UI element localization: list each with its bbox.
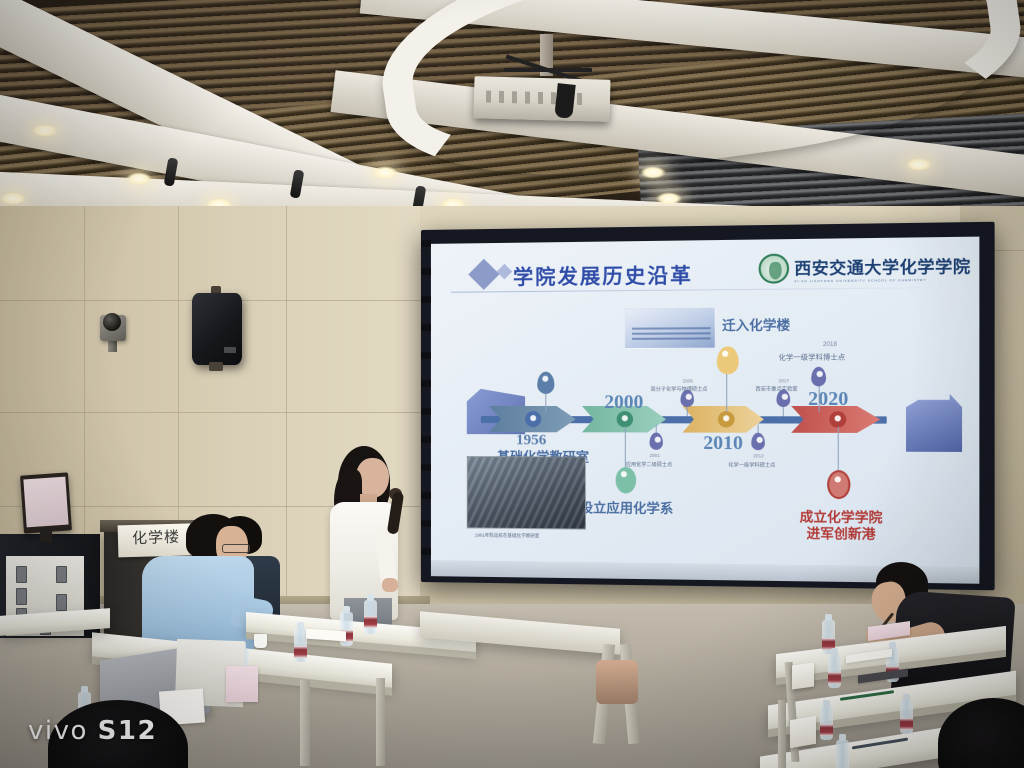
new-campus-illustration <box>906 391 962 452</box>
label-2000: 设立应用化学系 <box>580 497 673 517</box>
historical-photo <box>467 456 586 529</box>
bottle-label <box>364 616 377 628</box>
xjtu-seal-icon <box>759 254 789 284</box>
timeline-stem <box>838 427 839 477</box>
timeline-stem <box>819 383 820 412</box>
bottle-label <box>294 646 307 658</box>
wall-seam <box>286 206 287 606</box>
slide-title: 学院发展历史沿革 <box>513 259 693 290</box>
label-2006: 高分子化学与物理硕士点 <box>651 386 708 393</box>
label-2012: 化学一级学科硕士点 <box>728 461 775 468</box>
timeline-pin-2001 <box>650 432 663 449</box>
timeline-node-1956 <box>525 411 541 427</box>
downlight <box>32 124 58 137</box>
downlight <box>126 172 152 185</box>
table-leg <box>300 680 310 766</box>
timeline-pin-2010 <box>717 346 739 374</box>
speaker-bracket <box>209 362 223 371</box>
bottle-label <box>820 724 833 736</box>
projector-mount <box>504 62 592 78</box>
year-2000: 2000 <box>604 392 643 414</box>
eyeglasses-icon <box>222 544 250 553</box>
photo-caption: 1961年陈廷栋在基础化学教研室 <box>475 533 539 540</box>
downlight <box>0 192 26 205</box>
timeline-pin-2012 <box>751 433 765 451</box>
year-2010: 2010 <box>703 433 743 456</box>
label-2018: 化学一级学科博士点 <box>779 352 846 363</box>
monitor-stand <box>40 528 52 542</box>
projection-screen-frame: 学院发展历史沿革 西安交通大学化学学院 XI'AN JIAOTONG UNIVE… <box>421 222 995 591</box>
timeline-pin-2000 <box>616 467 637 494</box>
downlight <box>640 166 666 179</box>
year-2001: 2001 <box>650 453 660 458</box>
label-2020-line2: 进军创新港 <box>783 525 900 543</box>
presenter-hand <box>382 578 398 592</box>
panel-switch[interactable] <box>16 566 27 583</box>
wall-seam <box>0 412 420 413</box>
watermark-brand: vivo <box>28 716 88 746</box>
year-2020: 2020 <box>808 388 848 411</box>
timeline-node-2010 <box>718 411 735 427</box>
slide-header: 学院发展历史沿革 西安交通大学化学学院 XI'AN JIAOTONG UNIVE… <box>431 243 979 292</box>
table-leg <box>376 678 385 766</box>
wall-speaker <box>192 293 242 365</box>
chair-back <box>596 660 638 704</box>
year-2012: 2012 <box>753 453 763 458</box>
name-card <box>790 716 816 749</box>
panel-switch[interactable] <box>56 594 67 611</box>
projection-screen-surface: 学院发展历史沿革 西安交通大学化学学院 XI'AN JIAOTONG UNIVE… <box>431 237 979 567</box>
camera-lens-icon <box>103 313 121 331</box>
downlight <box>372 166 398 179</box>
pink-document <box>226 666 258 702</box>
screen-tension-tabs <box>421 236 431 580</box>
bottle-label <box>900 718 913 730</box>
photograph-scene: 学院发展历史沿革 西安交通大学化学学院 XI'AN JIAOTONG UNIVE… <box>0 0 1024 768</box>
panel-switch[interactable] <box>56 566 67 583</box>
timeline-pin-2018 <box>811 367 826 387</box>
presentation-slide: 学院发展历史沿革 西安交通大学化学学院 XI'AN JIAOTONG UNIVE… <box>431 237 979 567</box>
chemistry-building-photo <box>625 308 716 349</box>
diamond-icon <box>468 259 499 290</box>
table-leg <box>778 700 786 768</box>
timeline-node-2020 <box>829 411 846 428</box>
logo-text-cn: 西安交通大学化学学院 <box>794 252 970 279</box>
bottle-label <box>828 672 841 684</box>
monitor-screen <box>23 477 68 528</box>
year-2006: 2006 <box>683 378 693 383</box>
year-2018: 2018 <box>823 342 837 348</box>
university-logo: 西安交通大学化学学院 XI'AN JIAOTONG UNIVERSITY SCH… <box>759 251 971 283</box>
year-2017: 2017 <box>779 378 790 383</box>
downlight <box>906 158 932 171</box>
label-2001: 应用化学二级硕士点 <box>626 461 672 468</box>
camera-watermark: vivo S12 <box>28 716 157 746</box>
timeline-pin-1956 <box>537 372 554 394</box>
panel-switch[interactable] <box>16 588 27 605</box>
diamond-icon-small <box>497 264 513 280</box>
watermark-model: S12 <box>98 716 157 746</box>
paper-cup <box>254 634 267 648</box>
timeline-pin-2020 <box>827 470 850 499</box>
downlight <box>656 192 682 205</box>
label-2017: 西安市重点实验室 <box>755 385 797 392</box>
water-bottle <box>836 740 849 768</box>
label-2010: 迁入化学楼 <box>722 314 790 334</box>
label-2020-line1: 成立化学学院 <box>783 509 900 527</box>
ceiling-projector <box>473 76 610 122</box>
name-card <box>792 662 814 689</box>
